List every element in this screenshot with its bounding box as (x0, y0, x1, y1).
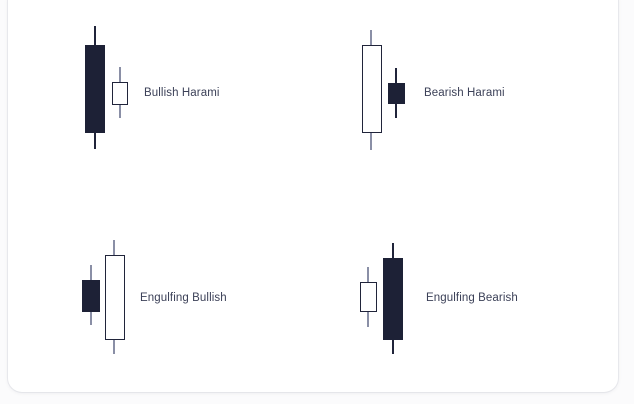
candle-body-hollow (105, 255, 125, 340)
pattern-label-bearish-harami: Bearish Harami (424, 86, 505, 100)
pattern-label-bullish-harami: Bullish Harami (144, 86, 220, 100)
candle-body-hollow (362, 45, 382, 133)
page-root: Bullish Harami Bearish Harami (0, 0, 634, 404)
candle-body-filled (388, 83, 405, 104)
pattern-label-engulfing-bearish: Engulfing Bearish (426, 291, 518, 305)
candle-lower-wick (367, 310, 369, 327)
candle-body-hollow (360, 282, 377, 312)
candle-body-filled (383, 258, 403, 340)
candle-body-hollow (112, 82, 128, 105)
candlestick-pattern-diagram: Bullish Harami Bearish Harami (0, 0, 634, 404)
candle-body-filled (82, 280, 100, 312)
candle-body-filled (85, 45, 105, 133)
pattern-label-engulfing-bullish: Engulfing Bullish (140, 291, 227, 305)
candle-lower-wick (370, 130, 372, 150)
